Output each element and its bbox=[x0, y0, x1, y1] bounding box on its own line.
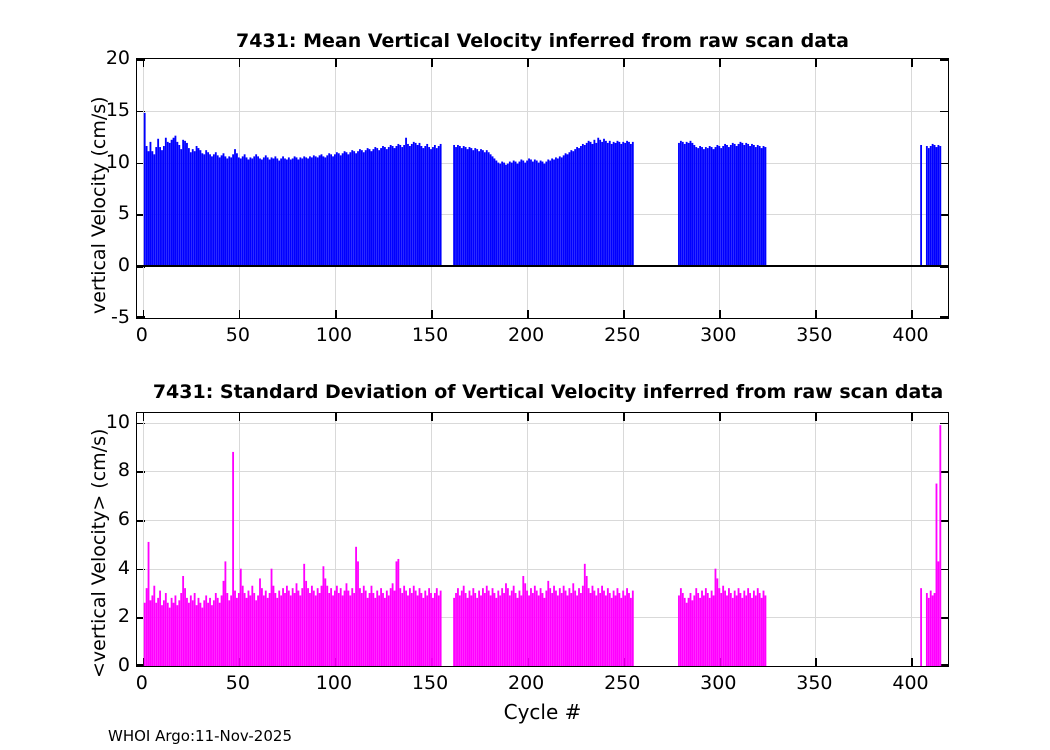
y-tick-label: 4 bbox=[118, 557, 130, 579]
x-axis-label-std: Cycle # bbox=[136, 700, 949, 724]
bar-series bbox=[137, 413, 948, 666]
x-tick-label: 200 bbox=[508, 672, 544, 694]
x-tick-label: 200 bbox=[508, 324, 544, 346]
x-tick-label: 400 bbox=[892, 672, 928, 694]
y-tick-label: 15 bbox=[106, 99, 130, 121]
x-tick-label: 150 bbox=[412, 324, 448, 346]
bar-series bbox=[137, 59, 948, 318]
y-tick-label: -5 bbox=[111, 306, 130, 328]
y-tick-label: 5 bbox=[118, 202, 130, 224]
x-tick-label: 50 bbox=[226, 672, 250, 694]
y-tick-labels-mean: -505101520 bbox=[86, 58, 130, 319]
x-tick-label: 150 bbox=[412, 672, 448, 694]
chart-title-std: 7431: Standard Deviation of Vertical Vel… bbox=[68, 381, 1028, 403]
x-tick-label: 0 bbox=[136, 324, 148, 346]
y-tick-label: 10 bbox=[106, 411, 130, 433]
y-tick-label: 10 bbox=[106, 151, 130, 173]
plot-area-std bbox=[136, 412, 949, 667]
x-tick-label: 350 bbox=[796, 324, 832, 346]
x-tick-label: 350 bbox=[796, 672, 832, 694]
x-tick-label: 100 bbox=[316, 324, 352, 346]
x-tick-labels-mean: 050100150200250300350400 bbox=[136, 324, 949, 350]
y-tick-label: 6 bbox=[118, 508, 130, 530]
y-tick-labels-std: 0246810 bbox=[86, 412, 130, 667]
x-tick-label: 300 bbox=[700, 324, 736, 346]
plot-area-mean bbox=[136, 58, 949, 319]
y-tick-label: 20 bbox=[106, 47, 130, 69]
y-tick-label: 0 bbox=[118, 654, 130, 676]
x-tick-label: 50 bbox=[226, 324, 250, 346]
x-tick-label: 100 bbox=[316, 672, 352, 694]
chart-title-mean: 7431: Mean Vertical Velocity inferred fr… bbox=[136, 30, 949, 52]
x-tick-label: 300 bbox=[700, 672, 736, 694]
zero-baseline bbox=[137, 265, 948, 267]
x-tick-label: 250 bbox=[604, 324, 640, 346]
y-tick-label: 0 bbox=[118, 254, 130, 276]
argo-velocity-figure: 7431: Mean Vertical Velocity inferred fr… bbox=[0, 0, 1050, 750]
x-tick-label: 400 bbox=[892, 324, 928, 346]
y-tick-label: 8 bbox=[118, 459, 130, 481]
x-tick-label: 250 bbox=[604, 672, 640, 694]
x-tick-labels-std: 050100150200250300350400 bbox=[136, 672, 949, 698]
x-tick-label: 0 bbox=[136, 672, 148, 694]
footer-credit: WHOI Argo:11-Nov-2025 bbox=[108, 727, 292, 745]
y-tick-label: 2 bbox=[118, 605, 130, 627]
